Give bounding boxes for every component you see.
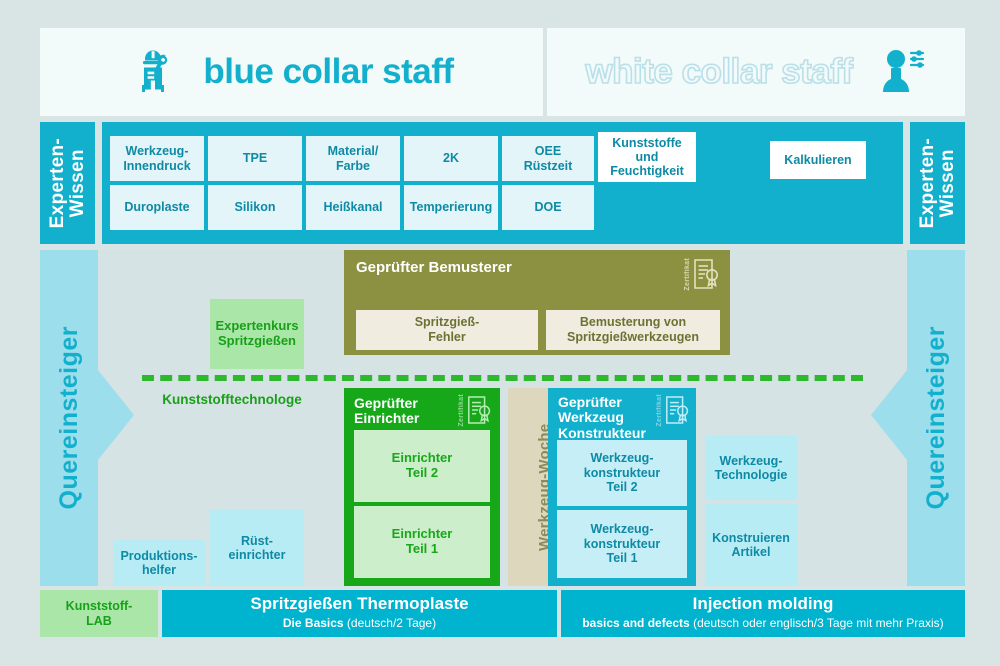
expert-cell-silikon[interactable]: Silikon (208, 185, 302, 230)
expert-knowledge-left-label: Experten-Wissen (40, 122, 95, 244)
box-einrichter-teil-2[interactable]: EinrichterTeil 2 (354, 430, 490, 502)
course-a-sub-bold: Die Basics (283, 616, 344, 630)
course-spritzgiessen-thermoplaste[interactable]: Spritzgießen Thermoplaste Die Basics (de… (162, 590, 557, 637)
box-konstruieren-artikel[interactable]: KonstruierenArtikel (705, 504, 797, 586)
expert-cell-duroplaste[interactable]: Duroplaste (110, 185, 204, 230)
expert-knowledge-grid: Werkzeug-Innendruck TPE Material/Farbe 2… (102, 122, 903, 244)
certificate-label: Zertifikat (458, 394, 465, 427)
box-spritzgiess-fehler[interactable]: Spritzgieß-Fehler (356, 310, 538, 350)
box-werkzeugkonstrukteur-teil-2[interactable]: Werkzeug-konstrukteurTeil 2 (557, 440, 687, 506)
quereinsteiger-right: Quereinsteiger (907, 250, 965, 586)
course-b-subtitle: basics and defects (deutsch oder englisc… (582, 616, 943, 632)
infographic-root: blue collar staff white collar staff (0, 0, 1000, 666)
box-werkzeug-technologie[interactable]: Werkzeug-Technologie (705, 436, 797, 500)
office-person-settings-icon (875, 42, 927, 103)
expert-cell-material-farbe[interactable]: Material/Farbe (306, 136, 400, 181)
course-b-sub-bold: basics and defects (582, 616, 689, 630)
group-gepruefter-einrichter[interactable]: GeprüfterEinrichter Zertifikat Einrichte… (344, 388, 500, 586)
certificate-badge-einrichter: Zertifikat (458, 394, 492, 427)
quereinsteiger-right-arrow-icon (871, 370, 907, 460)
quereinsteiger-left-arrow-icon (98, 370, 134, 460)
group-einrichter-title: GeprüfterEinrichter (354, 396, 419, 427)
expert-cell-kalkulieren[interactable]: Kalkulieren (770, 141, 866, 179)
header-band: blue collar staff white collar staff (40, 28, 965, 116)
expert-cell-tpe[interactable]: TPE (208, 136, 302, 181)
box-expertenkurs-spritzgiessen[interactable]: ExpertenkursSpritzgießen (210, 299, 304, 369)
footer-bar: Kunststoff-LAB Spritzgießen Thermoplaste… (40, 590, 965, 637)
expert-knowledge-right-label: Experten-Wissen (910, 122, 965, 244)
header-white-collar-title: white collar staff (585, 52, 852, 92)
expert-knowledge-row: Experten-Wissen Experten-Wissen Werkzeug… (40, 122, 965, 244)
course-a-subtitle: Die Basics (deutsch/2 Tage) (283, 616, 436, 632)
certificate-label: Zertifikat (684, 258, 691, 291)
expert-cell-heisskanal[interactable]: Heißkanal (306, 185, 400, 230)
course-a-sub-rest: (deutsch/2 Tage) (344, 616, 437, 630)
box-einrichter-teil-1[interactable]: EinrichterTeil 1 (354, 506, 490, 578)
box-werkzeugkonstrukteur-teil-1[interactable]: Werkzeug-konstrukteurTeil 1 (557, 510, 687, 578)
expert-cell-2k[interactable]: 2K (404, 136, 498, 181)
expert-cell-doe[interactable]: DOE (502, 185, 594, 230)
certificate-badge-werkzeugkonstrukteur: Zertifikat (656, 394, 690, 427)
box-bemusterung-von-spritzgiesswerkzeugen[interactable]: Bemusterung vonSpritzgießwerkzeugen (546, 310, 720, 350)
expert-cell-kunststoffe-feuchtigkeit[interactable]: KunststoffeundFeuchtigkeit (598, 132, 696, 182)
label-kunststofftechnologe: Kunststofftechnologe (142, 388, 322, 410)
header-blue-collar-title: blue collar staff (203, 52, 453, 92)
group-gepruefter-bemusterer[interactable]: Geprüfter Bemusterer Zertifikat Spritzgi… (344, 250, 730, 355)
course-b-title: Injection molding (693, 595, 834, 614)
box-produktionshelfer[interactable]: Produktions-helfer (113, 540, 205, 586)
quereinsteiger-right-text: Quereinsteiger (922, 326, 951, 509)
expert-cell-oee-ruestzeit[interactable]: OEERüstzeit (502, 136, 594, 181)
expert-cell-werkzeug-innendruck[interactable]: Werkzeug-Innendruck (110, 136, 204, 181)
group-bemusterer-title: Geprüfter Bemusterer (356, 259, 512, 276)
header-white-collar: white collar staff (547, 28, 965, 116)
quereinsteiger-left: Quereinsteiger (40, 250, 98, 586)
green-dashed-divider (142, 375, 863, 381)
certificate-label: Zertifikat (656, 394, 663, 427)
box-ruesteinrichter[interactable]: Rüst-einrichter (210, 510, 304, 586)
expert-cell-temperierung[interactable]: Temperierung (404, 185, 498, 230)
certificate-icon (664, 395, 690, 425)
expert-knowledge-left-text: Experten-Wissen (48, 138, 88, 228)
worker-helmet-wrench-icon (129, 42, 185, 103)
expert-knowledge-right-text: Experten-Wissen (918, 138, 958, 228)
box-kunststoff-lab[interactable]: Kunststoff-LAB (40, 590, 158, 637)
course-b-sub-rest: (deutsch oder englisch/3 Tage mit mehr P… (690, 616, 944, 630)
course-a-title: Spritzgießen Thermoplaste (250, 595, 468, 614)
certificate-badge-bemusterer: Zertifikat (684, 258, 720, 291)
quereinsteiger-left-text: Quereinsteiger (55, 326, 84, 509)
header-blue-collar: blue collar staff (40, 28, 543, 116)
group-werkzeugkonstrukteur-title: GeprüfterWerkzeugKonstrukteur (558, 395, 646, 441)
group-gepruefter-werkzeug-konstrukteur[interactable]: GeprüfterWerkzeugKonstrukteur Zertifikat… (548, 388, 696, 586)
main-panel: Quereinsteiger Quereinsteiger Expertenku… (40, 250, 965, 586)
certificate-icon (466, 395, 492, 425)
course-injection-molding[interactable]: Injection molding basics and defects (de… (561, 590, 965, 637)
certificate-icon (692, 258, 720, 290)
